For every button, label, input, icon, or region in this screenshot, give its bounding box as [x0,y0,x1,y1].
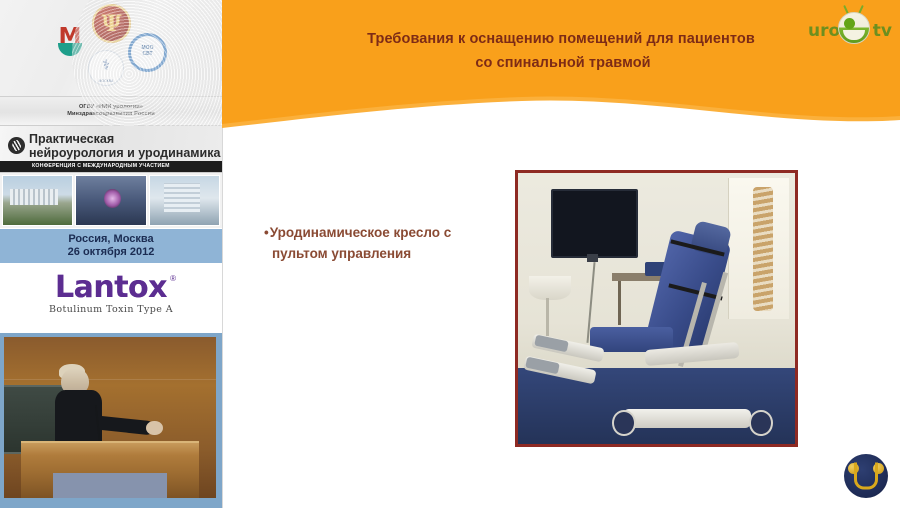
conference-sidebar: Ψ M ⚕ МОСКВА МОО СВТ ОГБУ «НИИ урологии»… [0,0,223,508]
chair-wheel-1 [612,410,635,436]
title-line-2: со спинальной травмой [222,51,900,75]
urology-institute-emblem [844,454,888,498]
urotv-text-right: tv [873,21,892,41]
conference-subtitle: КОНФЕРЕНЦИЯ С МЕЖДУНАРОДНЫМ УЧАСТИЕМ [32,163,170,169]
bee-eye-icon [844,18,855,29]
conference-title-line2: нейроурология и уродинамика [29,146,220,160]
bullet-text-line-1: Уродинамическое кресло с [270,225,452,240]
sidebar-thumbnail-strip [0,173,222,228]
hospital-building-photo [2,175,73,226]
conference-subtitle-bar: КОНФЕРЕНЦИЯ С МЕЖДУНАРОДНЫМ УЧАСТИЕМ [0,161,222,172]
speaker-hand [146,421,163,435]
page-title: Требования к оснащению помещений для пац… [222,27,900,75]
moscow-m-arc [58,43,82,56]
urology-emblem-logo: Ψ [92,4,131,43]
event-location-band: Россия, Москва 26 октября 2012 [0,228,222,263]
moscow-seal-glyph: ⚕ [102,56,110,73]
moscow-seal-caption: МОСКВА [89,79,123,83]
speaker-video-frame [4,337,216,498]
conference-banner: Практическая нейроурология и уродинамика… [0,126,222,173]
side-table-leg [618,281,621,324]
bullet-item: •Уродинамическое кресло с [264,222,494,243]
bee-smile-icon [843,30,865,40]
sidebar-logo-strip: Ψ M ⚕ МОСКВА МОО СВТ [0,0,222,96]
bullet-list: •Уродинамическое кресло с пультом управл… [264,222,494,264]
sink-pipe [546,298,549,336]
bee-smiley-icon [838,12,870,44]
urotv-text-left: uro [808,21,840,41]
spine-diagram-icon [753,187,772,312]
podium [21,441,199,498]
title-line-1: Требования к оснащению помещений для пац… [222,27,900,51]
bullet-text-line-2-row: пультом управления [264,243,494,264]
lantox-subtitle: Botulinum Toxin Type A [49,304,173,315]
slide-canvas: Ψ M ⚕ МОСКВА МОО СВТ ОГБУ «НИИ урологии»… [0,0,900,508]
chair-base-frame [623,409,750,428]
moo-svt-line1: МОО [131,45,164,51]
lantox-logo: Lantox ® [55,273,167,303]
title-banner: Требования к оснащению помещений для пац… [222,0,900,135]
chair-wheel-2 [749,410,772,436]
event-date: 26 октября 2012 [68,246,155,259]
laboratory-building-photo [149,175,220,226]
moo-svt-logo: МОО СВТ [128,33,167,72]
kidney-icon [8,137,25,154]
conference-title-line1: Практическая [29,132,114,146]
lantox-name: Lantox [55,270,167,305]
wall-mounted-tv [551,189,638,258]
bullet-text-line-2: пультом управления [272,246,411,261]
bullet-marker-icon: • [264,225,269,240]
wall-line [4,379,216,380]
urodynamic-chair-photo [515,170,798,447]
registered-mark-icon: ® [170,274,176,283]
moo-svt-line2: СВТ [131,51,164,57]
urology-emblem-glyph: Ψ [101,13,121,35]
moscow-seal-logo: ⚕ МОСКВА [88,50,124,86]
speaker-video-feed[interactable] [0,333,222,508]
operating-room-photo [75,175,146,226]
emblem-shape-icon [854,463,878,490]
sink [529,276,571,300]
moscow-m-logo: M [55,30,85,58]
event-city: Россия, Москва [68,233,153,246]
urotv-logo[interactable]: uro tv [808,4,892,48]
sponsor-block: Lantox ® Botulinum Toxin Type A [0,263,222,325]
